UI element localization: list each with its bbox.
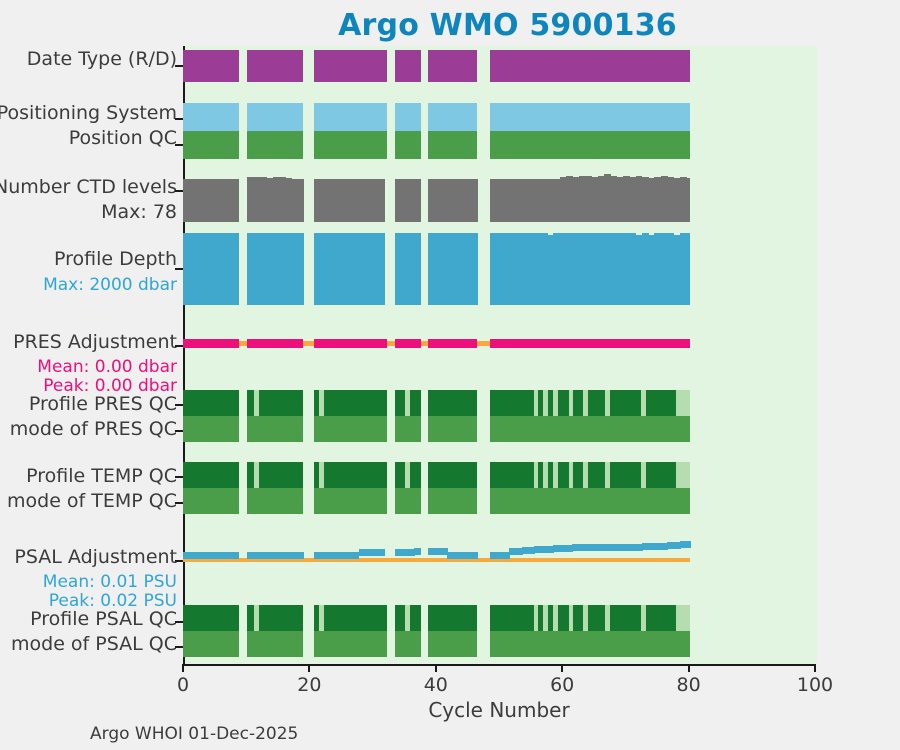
x-tick: [435, 664, 437, 672]
bar-profile-pres-qc-flag: [605, 390, 610, 416]
bar-profile-temp-qc-flag: [680, 462, 690, 488]
bar-profile-pres-qc-flag: [583, 390, 588, 416]
bar-profile-psal-qc-flag: [543, 605, 548, 631]
y-tick: [175, 404, 183, 406]
x-tick: [814, 664, 816, 672]
row-label-psal-adjustment: PSAL Adjustment: [14, 547, 177, 568]
bar-mode-psal-qc: [428, 631, 477, 657]
y-tick: [175, 268, 183, 270]
bar-position-qc: [490, 131, 690, 159]
bar-mode-psal-qc: [395, 631, 420, 657]
x-tick-label: 100: [785, 674, 845, 696]
bar-profile-pres-qc-flag: [319, 390, 324, 416]
y-tick: [175, 560, 183, 562]
bar-profile-pres-qc: [428, 390, 477, 416]
bar-positioning-system: [395, 103, 420, 131]
row-label-profile-depth: Profile Depth: [54, 249, 177, 270]
bar-positioning-system: [428, 103, 477, 131]
bar-ctd-level: [686, 178, 690, 222]
bar-mode-temp-qc: [395, 488, 420, 514]
bar-profile-temp-qc-flag: [254, 462, 259, 488]
bar-profile-depth: [234, 233, 240, 305]
line-pres-adjustment: [247, 339, 303, 348]
bar-profile-pres-qc: [314, 390, 386, 416]
bar-date-type: [247, 50, 303, 82]
bar-profile-psal-qc-flag: [553, 605, 558, 631]
line-pres-adjustment: [490, 339, 690, 348]
bar-mode-temp-qc: [428, 488, 477, 514]
bar-mode-psal-qc: [314, 631, 386, 657]
bar-positioning-system: [490, 103, 690, 131]
bar-position-qc: [247, 131, 303, 159]
x-tick-label: 60: [532, 674, 592, 696]
line-psal-adjustment: [298, 552, 304, 559]
line-pres-adjustment: [183, 339, 239, 348]
x-tick: [182, 664, 184, 672]
bar-profile-pres-qc-flag: [534, 390, 539, 416]
row-label-psal-adjustment-sub1: Mean: 0.01 PSU: [43, 573, 177, 591]
bar-profile-psal-qc: [183, 605, 239, 631]
bar-date-type: [314, 50, 386, 82]
bar-profile-psal-qc-flag: [605, 605, 610, 631]
bar-position-qc: [395, 131, 420, 159]
bar-profile-pres-qc-flag: [543, 390, 548, 416]
y-tick: [175, 621, 183, 623]
y-tick: [175, 476, 183, 478]
x-tick: [308, 664, 310, 672]
bar-profile-pres-qc-flag: [569, 390, 574, 416]
bar-position-qc: [314, 131, 386, 159]
row-label-ctd-levels: Number CTD levels: [0, 177, 177, 198]
bar-profile-pres-qc-flag: [553, 390, 558, 416]
y-tick: [175, 430, 183, 432]
page-title: Argo WMO 5900136: [0, 8, 900, 43]
bar-profile-depth: [414, 233, 421, 305]
row-label-positioning-system: Positioning System: [0, 103, 177, 124]
bar-profile-pres-qc-flag: [641, 390, 646, 416]
line-pres-adjustment: [395, 339, 420, 348]
bar-positioning-system: [183, 103, 239, 131]
bar-date-type: [183, 50, 239, 82]
row-label-positioning-system-sub1: Position QC: [69, 128, 177, 149]
bar-date-type: [428, 50, 477, 82]
bar-profile-pres-qc: [490, 390, 690, 416]
bar-mode-psal-qc: [183, 631, 239, 657]
bar-mode-pres-qc: [247, 416, 303, 442]
bar-mode-psal-qc: [247, 631, 303, 657]
y-tick: [175, 144, 183, 146]
bar-profile-pres-qc: [183, 390, 239, 416]
y-tick: [175, 118, 183, 120]
bar-profile-psal-qc-flag: [534, 605, 539, 631]
bar-mode-pres-qc: [490, 416, 690, 442]
bar-profile-psal-qc-flag: [641, 605, 646, 631]
bar-ctd-level: [378, 179, 385, 222]
bar-mode-pres-qc: [314, 416, 386, 442]
bar-profile-temp-qc-flag: [534, 462, 539, 488]
bar-profile-temp-qc-flag: [553, 462, 558, 488]
line-pres-adjustment: [314, 339, 386, 348]
bar-ctd-level: [234, 179, 240, 222]
bar-profile-temp-qc: [490, 462, 690, 488]
bar-ctd-level: [414, 179, 421, 222]
y-tick: [175, 646, 183, 648]
bar-positioning-system: [247, 103, 303, 131]
bar-profile-temp-qc-flag: [569, 462, 574, 488]
bar-mode-temp-qc: [314, 488, 386, 514]
row-label-ctd-levels-sub1: Max: 78: [101, 202, 177, 223]
row-label-profile-psal-qc-sub1: mode of PSAL QC: [11, 634, 177, 655]
line-psal-adjustment: [472, 552, 478, 559]
x-tick: [561, 664, 563, 672]
zero-line-psal: [183, 558, 690, 562]
row-label-date-type: Date Type (R/D): [27, 49, 177, 70]
line-psal-adjustment: [414, 548, 421, 555]
bar-mode-temp-qc: [247, 488, 303, 514]
line-pres-adjustment: [428, 339, 477, 348]
bar-profile-psal-qc-flag: [680, 605, 690, 631]
bar-profile-psal-qc-flag: [405, 605, 410, 631]
y-tick: [175, 190, 183, 192]
bar-profile-psal-qc-flag: [319, 605, 324, 631]
bar-date-type: [395, 50, 420, 82]
bar-profile-temp-qc-flag: [405, 462, 410, 488]
bar-profile-temp-qc: [428, 462, 477, 488]
footer-credit: Argo WHOI 01-Dec-2025: [90, 724, 298, 744]
bar-profile-psal-qc-flag: [583, 605, 588, 631]
row-label-profile-temp-qc-sub1: mode of TEMP QC: [7, 491, 177, 512]
bar-profile-temp-qc: [314, 462, 386, 488]
bar-profile-pres-qc-flag: [254, 390, 259, 416]
bar-profile-psal-qc-flag: [569, 605, 574, 631]
x-tick-label: 0: [153, 674, 213, 696]
bar-profile-temp-qc: [183, 462, 239, 488]
bar-profile-psal-qc-flag: [254, 605, 259, 631]
row-label-profile-psal-qc: Profile PSAL QC: [30, 609, 177, 630]
bar-profile-temp-qc-flag: [583, 462, 588, 488]
bar-mode-pres-qc: [183, 416, 239, 442]
y-tick: [175, 345, 183, 347]
bar-mode-pres-qc: [395, 416, 420, 442]
bar-profile-depth: [298, 233, 304, 305]
y-tick: [175, 65, 183, 67]
bar-profile-psal-qc: [314, 605, 386, 631]
bar-profile-pres-qc-flag: [680, 390, 690, 416]
bar-mode-temp-qc: [183, 488, 239, 514]
bar-mode-temp-qc: [490, 488, 690, 514]
x-tick-label: 40: [406, 674, 466, 696]
bar-profile-depth: [472, 233, 478, 305]
row-label-profile-temp-qc: Profile TEMP QC: [26, 466, 177, 487]
row-label-pres-adjustment: PRES Adjustment: [13, 332, 177, 353]
line-psal-adjustment: [378, 549, 385, 556]
bar-positioning-system: [314, 103, 386, 131]
bar-mode-psal-qc: [490, 631, 690, 657]
line-psal-adjustment: [686, 541, 691, 548]
bar-profile-depth: [686, 233, 690, 305]
bar-position-qc: [183, 131, 239, 159]
bar-profile-psal-qc: [490, 605, 690, 631]
row-label-profile-pres-qc: Profile PRES QC: [29, 394, 177, 415]
x-tick: [688, 664, 690, 672]
line-psal-adjustment: [234, 552, 240, 559]
row-label-pres-adjustment-sub1: Mean: 0.00 dbar: [37, 358, 177, 376]
x-tick-label: 20: [279, 674, 339, 696]
bar-profile-pres-qc-flag: [405, 390, 410, 416]
x-axis-line: [183, 664, 815, 666]
bar-ctd-level: [472, 179, 478, 222]
bar-mode-pres-qc: [428, 416, 477, 442]
row-label-profile-depth-sub1: Max: 2000 dbar: [43, 276, 177, 294]
bar-ctd-level: [298, 179, 304, 222]
bar-profile-temp-qc-flag: [605, 462, 610, 488]
y-tick: [175, 502, 183, 504]
bar-profile-psal-qc: [428, 605, 477, 631]
bar-profile-depth: [378, 233, 385, 305]
bar-profile-temp-qc-flag: [641, 462, 646, 488]
bar-date-type: [490, 50, 690, 82]
row-label-profile-pres-qc-sub1: mode of PRES QC: [10, 419, 177, 440]
x-axis-label: Cycle Number: [183, 698, 815, 722]
x-tick-label: 80: [659, 674, 719, 696]
bar-profile-temp-qc-flag: [319, 462, 324, 488]
bar-profile-temp-qc-flag: [543, 462, 548, 488]
bar-position-qc: [428, 131, 477, 159]
argo-summary-figure: Argo WMO 5900136 Cycle Number Argo WHOI …: [0, 0, 900, 750]
